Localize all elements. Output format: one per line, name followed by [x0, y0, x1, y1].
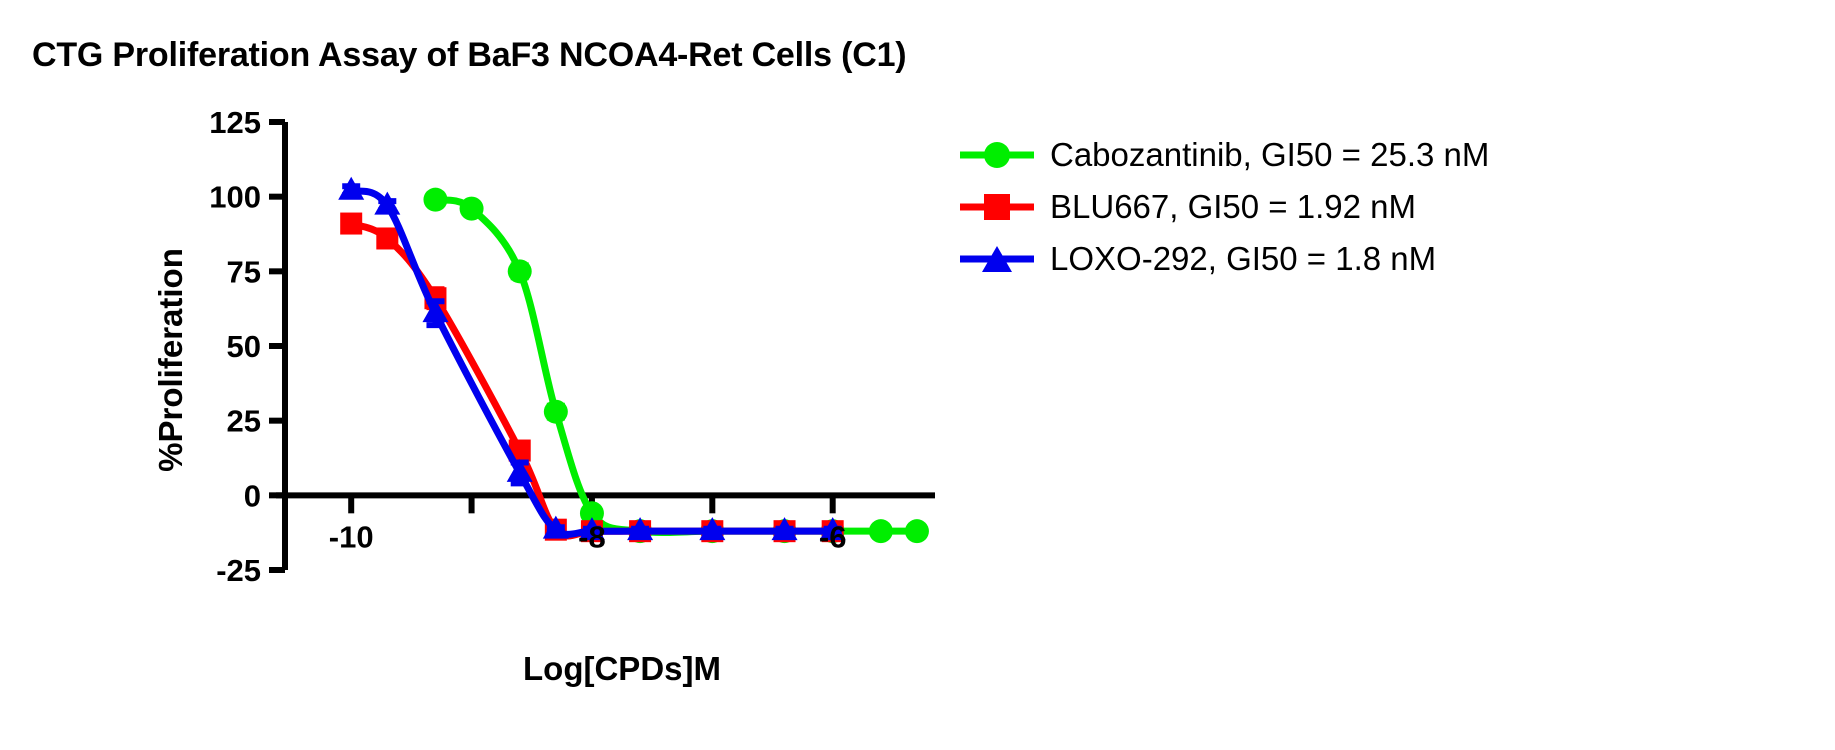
marker-square: [340, 213, 362, 235]
data-series: [340, 213, 843, 543]
series-curve: [351, 224, 832, 536]
axes-group: [269, 122, 935, 570]
y-axis-tick-label: -25: [216, 553, 261, 588]
marker-triangle: [422, 299, 448, 322]
marker-circle: [460, 197, 484, 221]
x-axis-tick-label: -6: [819, 519, 847, 554]
marker-circle: [423, 188, 447, 212]
marker-triangle: [543, 516, 569, 539]
marker-triangle: [579, 517, 605, 540]
marker-square: [822, 520, 844, 542]
data-series: [338, 177, 845, 540]
tick-labels-group: 1251007550250-25-10-8-6: [209, 105, 846, 588]
marker-square: [774, 520, 796, 542]
legend-item-1[interactable]: BLU667, GI50 = 1.92 nM: [960, 185, 1820, 228]
marker-circle: [821, 519, 845, 543]
legend-item-0[interactable]: Cabozantinib, GI50 = 25.3 nM: [960, 133, 1820, 176]
marker-triangle: [699, 517, 725, 540]
legend-marker-square-icon: [960, 192, 1034, 222]
marker-square: [545, 519, 567, 541]
marker-circle: [508, 259, 532, 283]
marker-square: [376, 227, 398, 249]
y-axis-tick-label: 75: [227, 254, 261, 289]
marker-triangle: [507, 459, 533, 482]
marker-triangle: [374, 192, 400, 215]
marker-circle: [544, 400, 568, 424]
legend-marker-triangle-icon: [960, 244, 1034, 274]
marker-triangle: [627, 517, 653, 540]
marker-circle: [773, 519, 797, 543]
x-axis-tick-label: -8: [578, 519, 606, 554]
y-axis-tick-label: 50: [227, 329, 261, 364]
series-group: [338, 177, 929, 543]
y-axis-title: %Proliferation: [152, 248, 189, 472]
marker-square: [509, 440, 531, 462]
marker-square: [629, 520, 651, 542]
x-axis-title: Log[CPDs]M: [523, 650, 721, 687]
legend-label-1: BLU667, GI50 = 1.92 nM: [1050, 190, 1416, 223]
legend-label-2: LOXO-292, GI50 = 1.8 nM: [1050, 242, 1436, 275]
marker-square: [424, 287, 446, 309]
marker-square: [701, 520, 723, 542]
plot-area: 1251007550250-25-10-8-6 Log[CPDs]M%Proli…: [0, 0, 1835, 750]
series-curve: [351, 191, 832, 535]
axis-titles-group: Log[CPDs]M%Proliferation: [152, 248, 721, 687]
marker-square: [581, 520, 603, 542]
marker-triangle: [820, 517, 846, 540]
legend-marker-circle-icon: [960, 140, 1034, 170]
y-axis-tick-label: 125: [209, 105, 261, 140]
marker-circle: [628, 519, 652, 543]
chart-title: CTG Proliferation Assay of BaF3 NCOA4-Re…: [32, 36, 906, 75]
legend-label-0: Cabozantinib, GI50 = 25.3 nM: [1050, 138, 1489, 171]
y-axis-tick-label: 100: [209, 180, 261, 215]
x-axis-tick-label: -10: [329, 519, 374, 554]
legend-item-2[interactable]: LOXO-292, GI50 = 1.8 nM: [960, 237, 1820, 280]
y-axis-tick-label: 25: [227, 404, 261, 439]
marker-circle: [869, 519, 893, 543]
marker-triangle: [772, 517, 798, 540]
marker-triangle: [338, 177, 364, 200]
chart-legend: Cabozantinib, GI50 = 25.3 nM BLU667, GI5…: [960, 133, 1820, 289]
y-axis-tick-label: 0: [244, 478, 261, 513]
marker-circle: [905, 519, 929, 543]
chart-svg: 1251007550250-25-10-8-6 Log[CPDs]M%Proli…: [0, 0, 1835, 750]
marker-circle: [700, 519, 724, 543]
series-curve: [435, 200, 916, 533]
data-series: [423, 188, 928, 544]
marker-circle: [580, 501, 604, 525]
